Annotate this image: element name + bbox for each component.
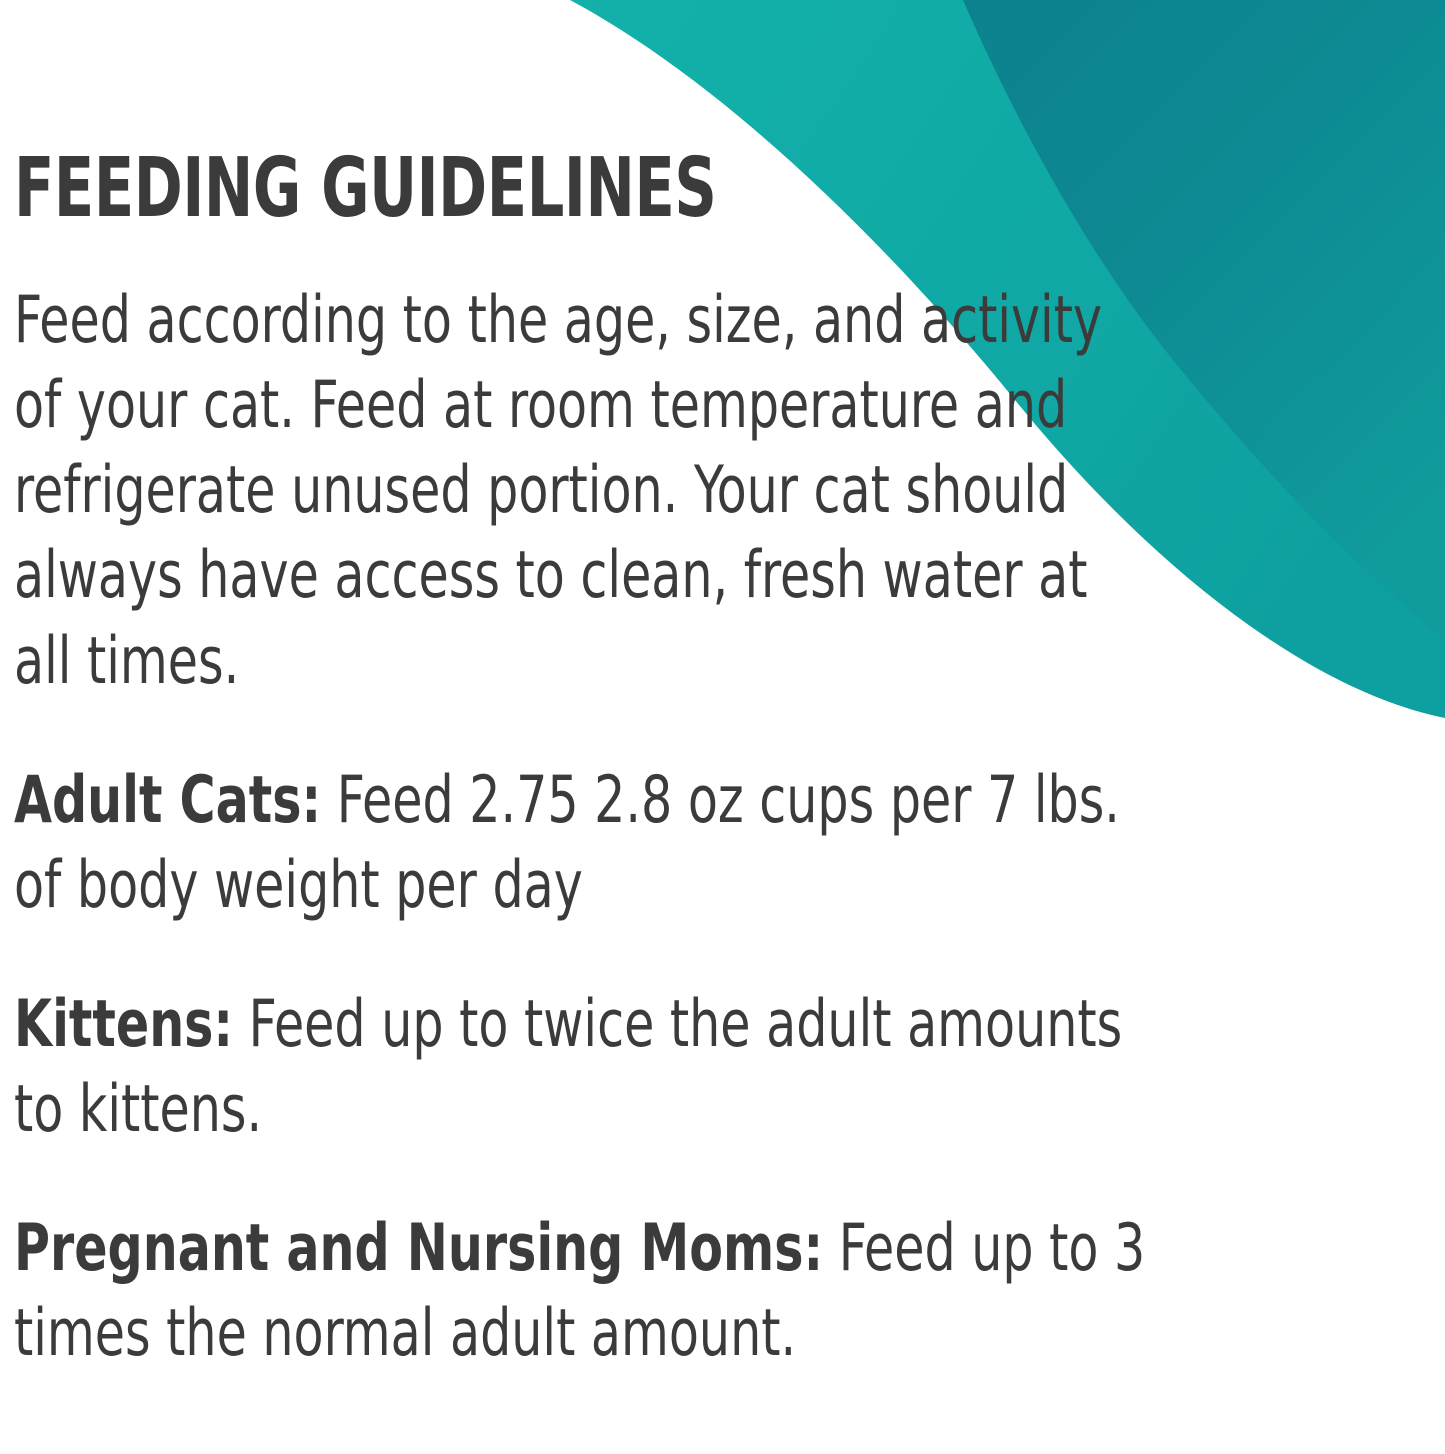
intro-paragraph: Feed according to the age, size, and act… — [14, 230, 1144, 704]
feeding-guidelines-panel: FEEDING GUIDELINES Feed according to the… — [0, 0, 1445, 1454]
kittens-label: Kittens: — [14, 987, 233, 1062]
section-pregnant-nursing-moms: Pregnant and Nursing Moms: Feed up to 3 … — [14, 1206, 1304, 1376]
kittens-paragraph: Kittens: Feed up to twice the adult amou… — [14, 982, 1161, 1152]
pregnant-nursing-paragraph: Pregnant and Nursing Moms: Feed up to 3 … — [14, 1206, 1161, 1376]
page-title: FEEDING GUIDELINES — [14, 0, 1046, 230]
section-kittens: Kittens: Feed up to twice the adult amou… — [14, 982, 1304, 1152]
pregnant-nursing-label: Pregnant and Nursing Moms: — [14, 1211, 823, 1286]
adult-cats-paragraph: Adult Cats: Feed 2.75 2.8 oz cups per 7 … — [14, 758, 1161, 928]
section-adult-cats: Adult Cats: Feed 2.75 2.8 oz cups per 7 … — [14, 758, 1304, 928]
adult-cats-label: Adult Cats: — [14, 763, 321, 838]
text-column: FEEDING GUIDELINES Feed according to the… — [14, 0, 1304, 1377]
